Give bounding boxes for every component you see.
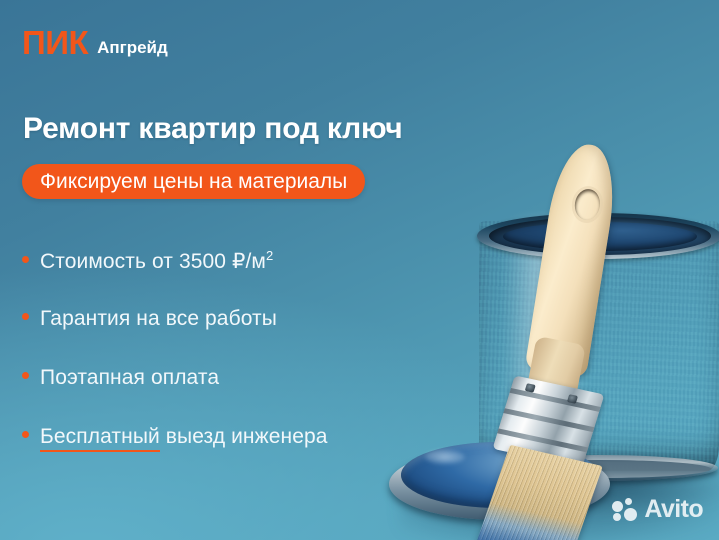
avito-dots-icon bbox=[612, 498, 638, 522]
bullet-dot-icon bbox=[22, 372, 29, 379]
bullet-dot-icon bbox=[22, 256, 29, 263]
brand-logo: ПИК Апгрейд bbox=[22, 26, 168, 59]
list-item-label: Гарантия на все работы bbox=[40, 307, 277, 331]
feature-list: Стоимость от 3500 ₽/м2 Гарантия на все р… bbox=[22, 248, 452, 484]
ferrule-band bbox=[510, 388, 601, 412]
bullet-dot-icon bbox=[22, 431, 29, 438]
superscript: 2 bbox=[266, 248, 273, 263]
list-item: Поэтапная оплата bbox=[22, 366, 452, 425]
page-title: Ремонт квартир под ключ bbox=[23, 112, 402, 146]
bullet-dot-icon bbox=[22, 313, 29, 320]
list-item-label-rest: выезд инженера bbox=[160, 425, 328, 448]
list-item: Стоимость от 3500 ₽/м2 bbox=[22, 248, 452, 307]
list-item-label: Бесплатный выезд инженера bbox=[40, 425, 328, 449]
list-item-label: Поэтапная оплата bbox=[40, 366, 219, 390]
list-item-label: Стоимость от 3500 ₽/м2 bbox=[40, 248, 273, 274]
ferrule-band bbox=[503, 408, 594, 432]
emphasis-underlined: Бесплатный bbox=[40, 425, 160, 452]
badge-label: Фиксируем цены на материалы bbox=[40, 170, 347, 194]
logo-wordmark: ПИК bbox=[22, 26, 88, 59]
avito-watermark: Avito bbox=[612, 497, 703, 522]
list-item: Гарантия на все работы bbox=[22, 307, 452, 366]
avito-wordmark: Avito bbox=[644, 497, 703, 522]
ferrule-rivet bbox=[525, 383, 536, 393]
advertisement-banner: ПИК Апгрейд Ремонт квартир под ключ Фикс… bbox=[0, 0, 719, 540]
status-badge: Фиксируем цены на материалы bbox=[22, 164, 365, 199]
list-item: Бесплатный выезд инженера bbox=[22, 425, 452, 484]
logo-subbrand: Апгрейд bbox=[97, 39, 168, 59]
